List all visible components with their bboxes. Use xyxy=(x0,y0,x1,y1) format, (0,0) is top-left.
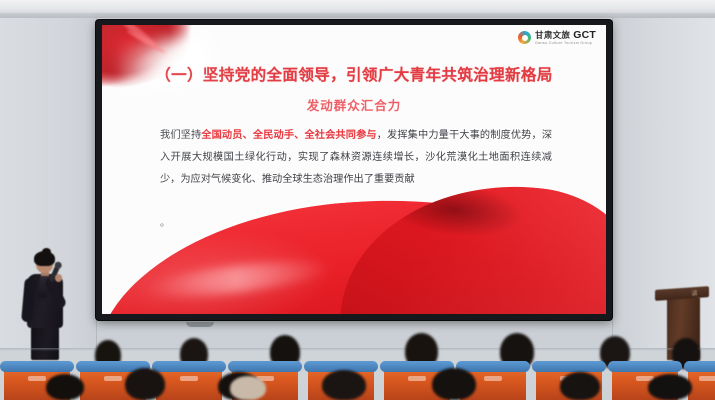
presentation-scene: 甘肃文旅 GCT Gansu Culture Tourism Group （一）… xyxy=(0,0,715,400)
audience-head xyxy=(432,368,476,400)
brand-name-en: GCT xyxy=(573,30,596,41)
audience-head xyxy=(560,372,600,400)
brand-name-cn: 甘肃文旅 xyxy=(535,31,570,40)
audience-face xyxy=(230,376,266,400)
audience-head xyxy=(125,368,165,400)
brand-logo: 甘肃文旅 GCT Gansu Culture Tourism Group xyxy=(518,30,596,46)
presenter xyxy=(22,254,68,358)
presenter-legs xyxy=(31,326,59,360)
slide-body-text: 我们坚持全国动员、全民动手、全社会共同参与，发挥集中力量干大事的制度优势，深入开… xyxy=(160,125,552,191)
audience-head xyxy=(46,374,84,400)
podium-sign: 讲 xyxy=(689,290,698,297)
auditorium-seat xyxy=(156,366,222,400)
body-highlight: 全国动员、全民动手、全社会共同参与 xyxy=(201,130,376,141)
brand-subtitle-en: Gansu Culture Tourism Group xyxy=(535,42,596,46)
slide-title: （一）坚持党的全面领导，引领广大青年共筑治理新格局 xyxy=(102,63,606,85)
led-screen: 甘肃文旅 GCT Gansu Culture Tourism Group （一）… xyxy=(102,25,606,314)
audience-head xyxy=(322,370,366,400)
auditorium-seat xyxy=(688,366,715,400)
wall-seam-right xyxy=(612,18,613,348)
ceiling xyxy=(0,0,715,14)
brand-text: 甘肃文旅 GCT Gansu Culture Tourism Group xyxy=(535,30,596,46)
presenter-hair-bun xyxy=(42,248,51,256)
podium-top xyxy=(655,286,709,301)
swirl-logo-icon xyxy=(518,31,531,44)
body-lead: 我们坚持 xyxy=(160,130,201,141)
body-terminator: 。 xyxy=(160,214,170,229)
presenter-hand xyxy=(55,274,62,282)
audience-head xyxy=(648,374,692,400)
screen-mount xyxy=(186,322,214,327)
slide-subtitle: 发动群众汇合力 xyxy=(102,95,606,114)
